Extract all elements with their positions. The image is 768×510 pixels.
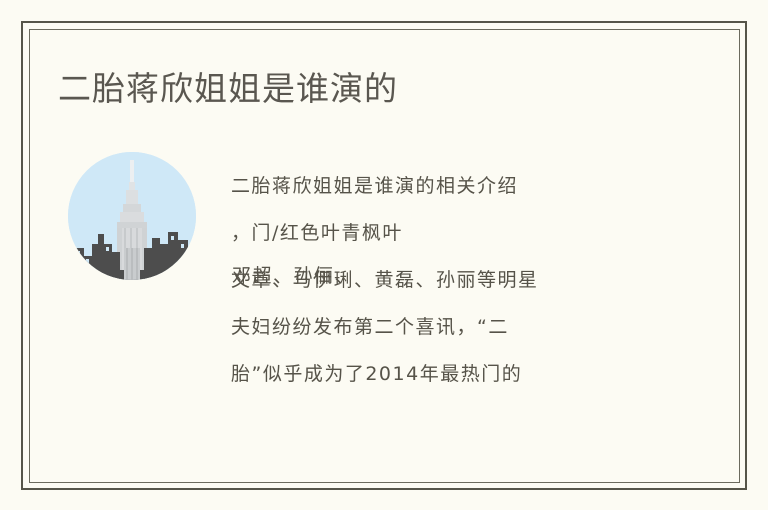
- avatar: [68, 152, 196, 280]
- article-line-overlapped: 文章、马伊琍、黄磊、孙丽等明星 邓超、孙俪、: [231, 257, 651, 304]
- skyline-icon: [68, 152, 196, 280]
- article-body: 二胎蒋欣姐姐是谁演的相关介绍 ，门/红色叶青枫叶 文章、马伊琍、黄磊、孙丽等明星…: [231, 163, 651, 398]
- article-line: ，门/红色叶青枫叶: [231, 210, 651, 257]
- article-line: 夫妇纷纷发布第二个喜讯，“二: [231, 304, 651, 351]
- article-card: 二胎蒋欣姐姐是谁演的: [0, 0, 768, 510]
- page-title: 二胎蒋欣姐姐是谁演的: [58, 62, 398, 110]
- article-line: 胎”似乎成为了2014年最热门的: [231, 351, 651, 398]
- article-line: 二胎蒋欣姐姐是谁演的相关介绍: [231, 163, 651, 210]
- article-line-overlay-b: 邓超、孙俪、: [232, 253, 355, 300]
